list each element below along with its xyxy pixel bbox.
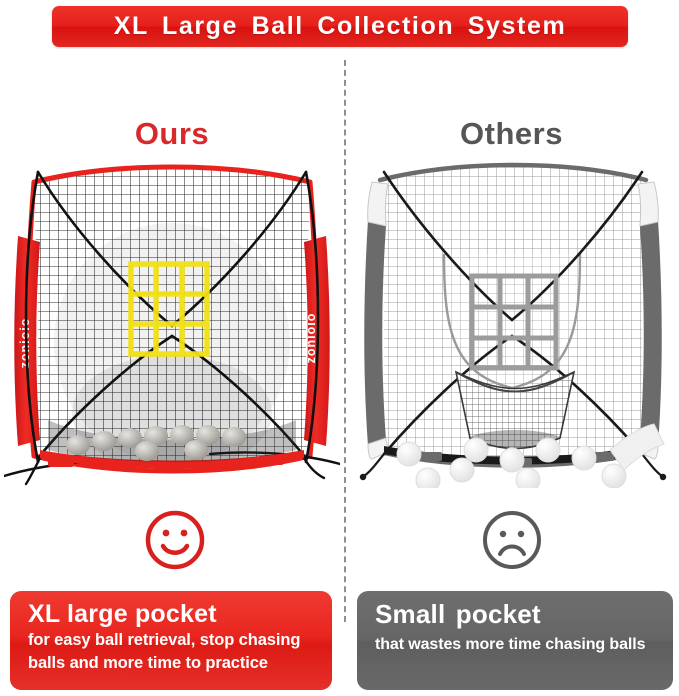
smiley-face-icon <box>143 508 207 572</box>
foot-right-others <box>660 474 666 480</box>
column-label-others: Others <box>344 118 679 149</box>
callout-ours-heading: XL large pocket <box>28 600 318 628</box>
callout-ours-body-line1: for easy ball retrieval, stop chasing <box>28 630 318 651</box>
brand-text-right: zonioio <box>304 313 318 364</box>
product-image-others <box>352 158 675 488</box>
column-label-ours: Ours <box>0 118 344 149</box>
callout-ours-body-line2: balls and more time to practice <box>28 653 318 674</box>
foot-left-others <box>360 474 366 480</box>
product-image-ours: zonioio zonioio <box>4 158 340 488</box>
callout-others-heading: Small pocket <box>375 600 659 629</box>
frowny-face-icon <box>480 508 544 572</box>
callout-ours: XL large pocket for easy ball retrieval,… <box>10 591 332 690</box>
title-banner: XL Large Ball Collection System <box>52 6 628 47</box>
comparison-infographic: XL Large Ball Collection System Ours Oth… <box>0 0 679 696</box>
page-title: XL Large Ball Collection System <box>114 14 567 39</box>
callout-others: Small pocket that wastes more time chasi… <box>357 591 673 690</box>
callout-others-body-line1: that wastes more time chasing balls <box>375 635 659 655</box>
